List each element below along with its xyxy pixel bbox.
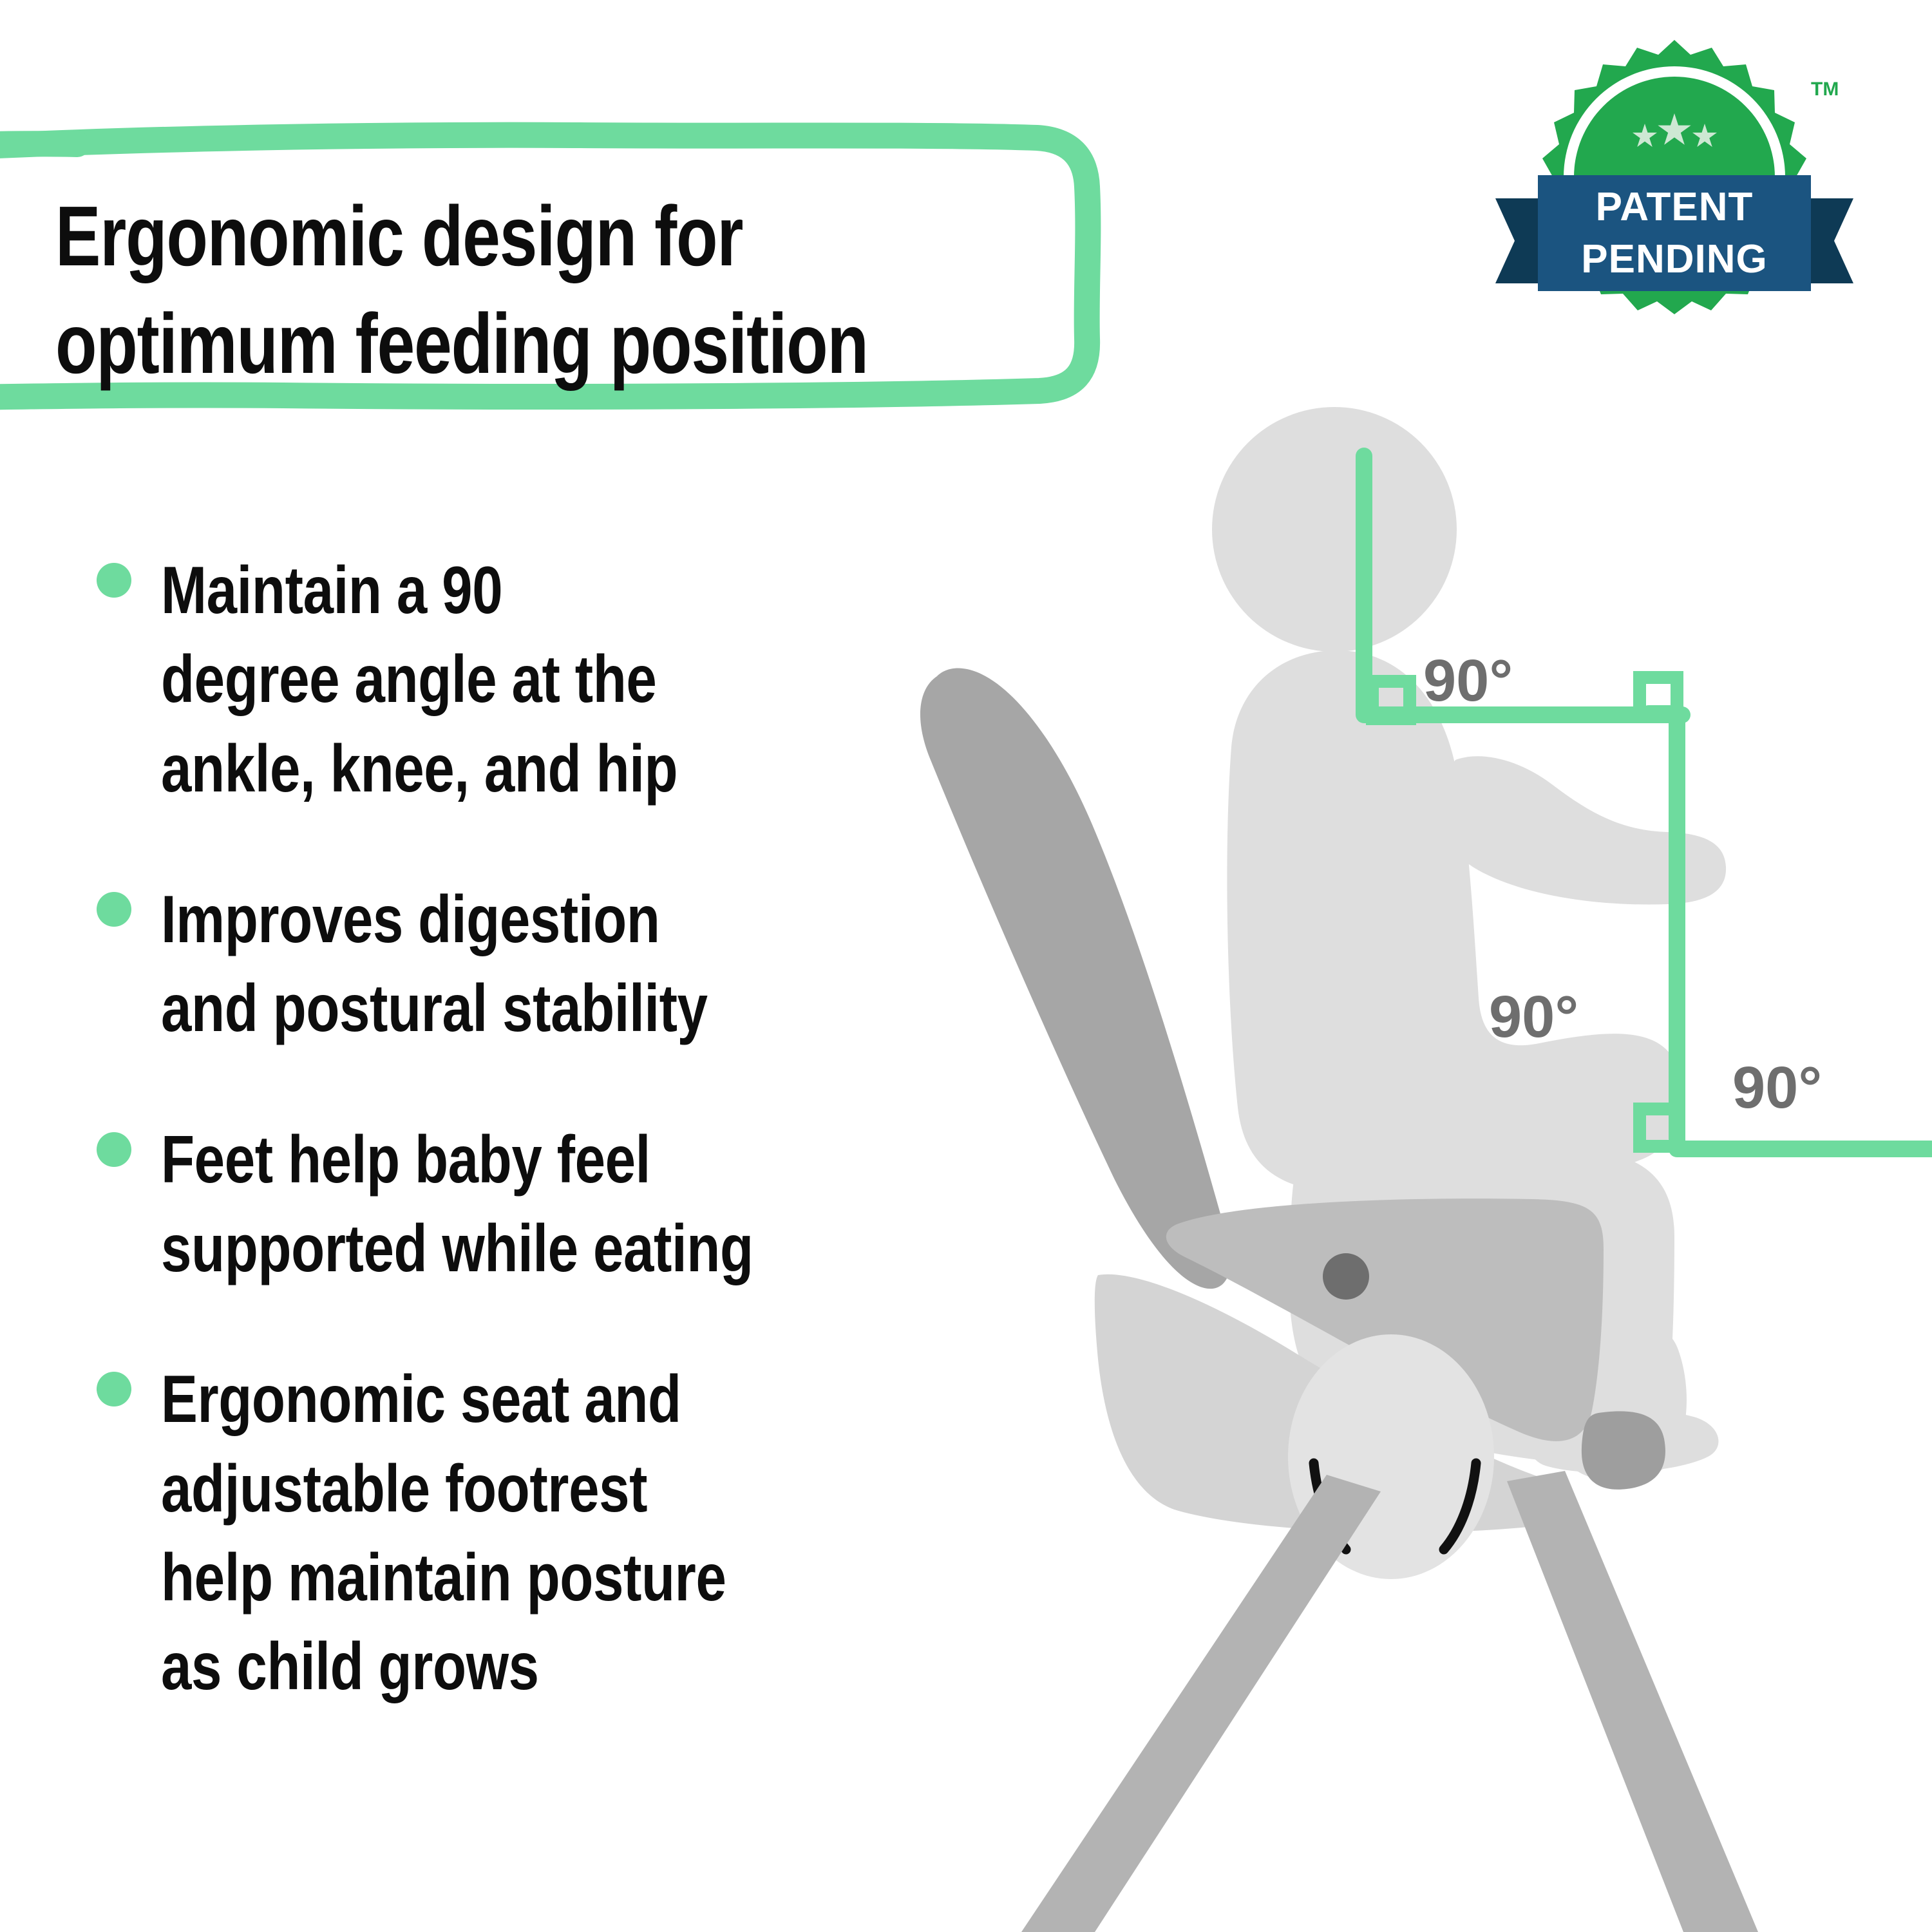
list-item: Feet help baby feel supported while eati…: [97, 1115, 953, 1294]
seat-bolt-icon: [1323, 1253, 1369, 1300]
ankle-angle-label: 90°: [1732, 1055, 1822, 1121]
bullet-label: Maintain a 90 degree angle at the ankle,…: [161, 546, 811, 813]
list-item: Ergonomic seat and adjustable footrest h…: [97, 1355, 953, 1711]
bullet-dot-icon: [97, 1372, 131, 1406]
bullet-dot-icon: [97, 563, 131, 598]
feature-bullet-list: Maintain a 90 degree angle at the ankle,…: [97, 546, 953, 1773]
baby-torso: [1227, 650, 1683, 1193]
bullet-label: Ergonomic seat and adjustable footrest h…: [161, 1355, 811, 1711]
badge-ribbon: PATENT PENDING: [1495, 175, 1853, 291]
list-item: Improves digestion and postural stabilit…: [97, 875, 953, 1054]
bullet-dot-icon: [97, 892, 131, 927]
baby-head: [1212, 407, 1457, 652]
trademark-mark: TM: [1811, 79, 1839, 100]
hip-angle-label: 90°: [1423, 648, 1513, 714]
chair-leg-rear: [1507, 1471, 1758, 1932]
chair-footrest: [1582, 1411, 1665, 1489]
chair-leg-front: [1021, 1475, 1381, 1932]
bullet-label: Improves digestion and postural stabilit…: [161, 875, 811, 1054]
chair-backrest: [920, 668, 1231, 1289]
list-item: Maintain a 90 degree angle at the ankle,…: [97, 546, 953, 813]
knee-angle-label: 90°: [1489, 984, 1578, 1050]
highchair-illustration: 90° 90° 90°: [902, 386, 1932, 1932]
infographic-root: Ergonomic design for optimum feeding pos…: [0, 0, 1932, 1932]
badge-line1: PATENT: [1596, 185, 1754, 229]
bullet-dot-icon: [97, 1132, 131, 1167]
patent-pending-badge: PATENT PENDING TM: [1481, 26, 1868, 374]
bullet-label: Feet help baby feel supported while eati…: [161, 1115, 811, 1294]
page-title: Ergonomic design for optimum feeding pos…: [55, 183, 880, 397]
badge-line2: PENDING: [1581, 237, 1767, 281]
